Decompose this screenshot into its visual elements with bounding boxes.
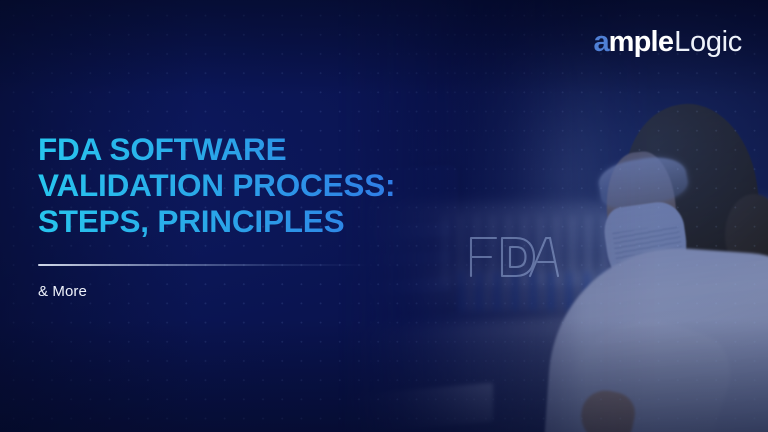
- logo-logic-text: Logic: [674, 28, 742, 57]
- blog-hero-banner: ampleLogic FDA SOFTWARE VALIDATION PROCE…: [0, 0, 768, 432]
- page-title-line-2: VALIDATION PROCESS:: [38, 167, 558, 203]
- amplelogic-logo[interactable]: ampleLogic: [594, 28, 742, 57]
- logo-a-mark: a: [594, 28, 609, 57]
- page-title: FDA SOFTWARE VALIDATION PROCESS: STEPS, …: [38, 131, 558, 239]
- subtitle-text: & More: [38, 283, 87, 300]
- logo-ample-text: mple: [609, 28, 674, 57]
- page-title-line-3: STEPS, PRINCIPLES: [38, 203, 558, 239]
- title-divider: [38, 264, 368, 266]
- page-title-line-1: FDA SOFTWARE: [38, 131, 558, 167]
